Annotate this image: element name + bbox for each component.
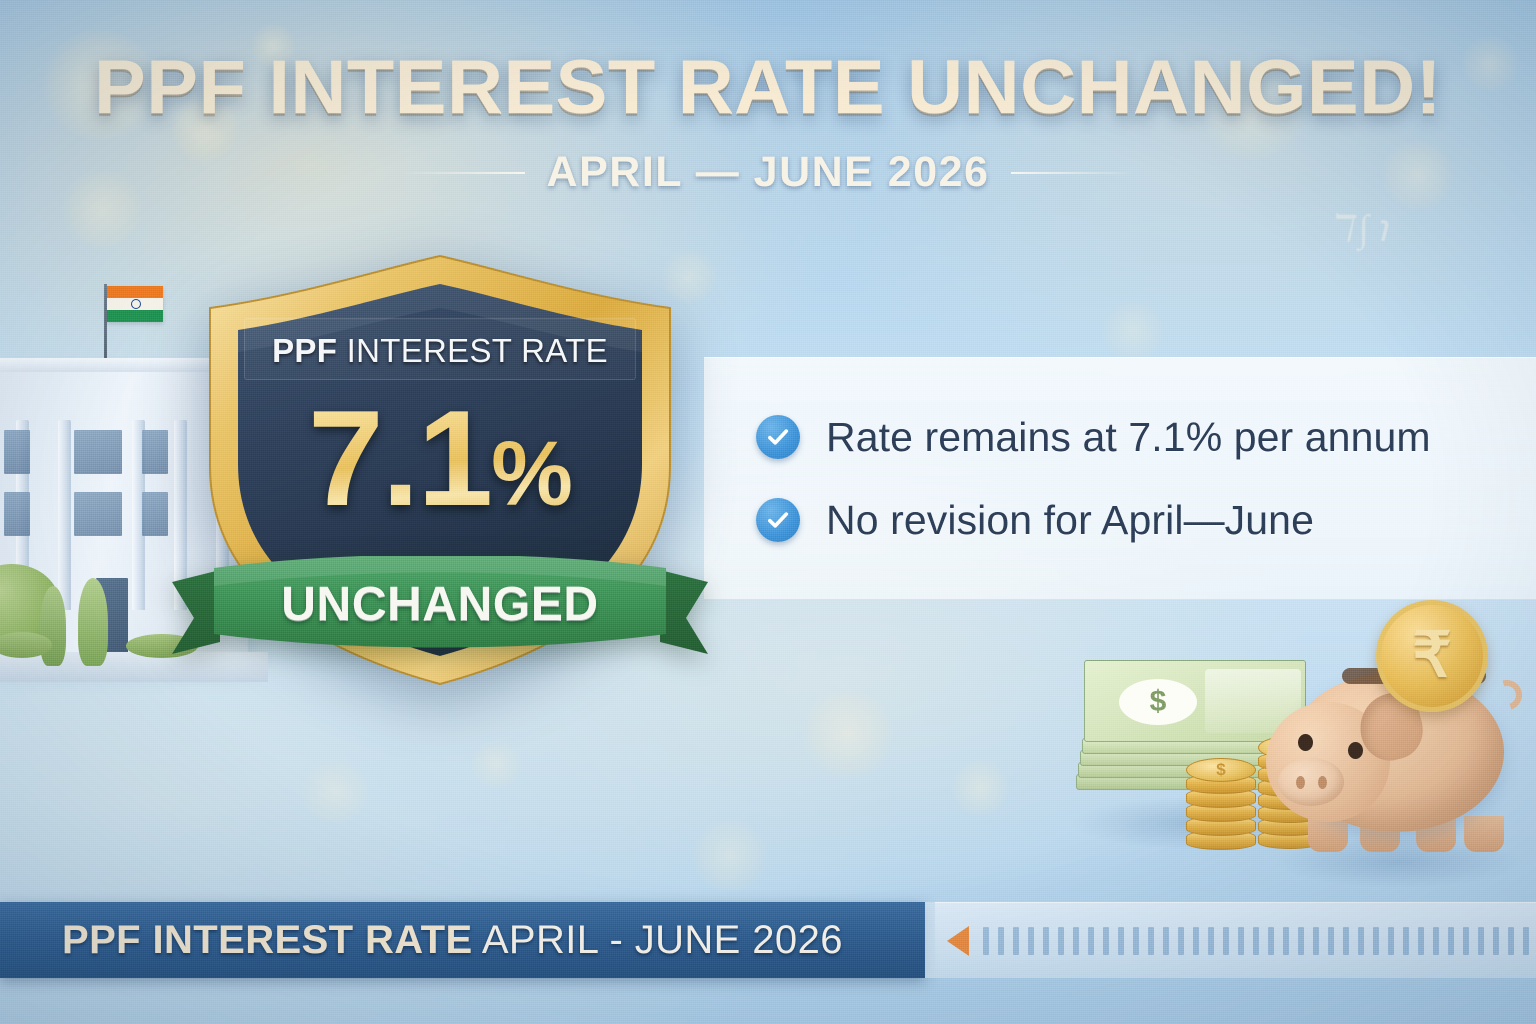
infographic-canvas: ℸ∫℩ PPF INTEREST RATE UNCHANGED! APRIL —… bbox=[0, 0, 1536, 1024]
fact-text: Rate remains at 7.1% per annum bbox=[826, 414, 1431, 461]
ticker-tick bbox=[1523, 927, 1529, 955]
building-window bbox=[142, 430, 168, 474]
lower-third: PPF INTEREST RATE APRIL - JUNE 2026 bbox=[0, 902, 1536, 978]
ticker-tick bbox=[1358, 927, 1364, 955]
coin-stack-small: $ bbox=[1186, 750, 1256, 850]
ticker-tick bbox=[1238, 927, 1244, 955]
ticker-tick bbox=[1088, 927, 1094, 955]
ticker-tick bbox=[1043, 927, 1049, 955]
fact-text: No revision for April—June bbox=[826, 497, 1314, 544]
lower-third-divider bbox=[925, 902, 935, 978]
coin-top: $ bbox=[1186, 758, 1256, 782]
ticker-tick bbox=[983, 927, 989, 955]
check-circle-icon bbox=[756, 498, 800, 542]
ticker-tick bbox=[1073, 927, 1079, 955]
ticker-tick bbox=[1313, 927, 1319, 955]
subtitle: APRIL — JUNE 2026 bbox=[547, 148, 990, 197]
rupee-symbol: ₹ bbox=[1412, 625, 1451, 687]
pig-leg bbox=[1464, 816, 1504, 852]
rate-value-display: 7.1% bbox=[198, 390, 682, 526]
pig-eye bbox=[1348, 742, 1363, 759]
play-marker-icon[interactable] bbox=[947, 926, 969, 956]
ticker-tick bbox=[1163, 927, 1169, 955]
pig-snout bbox=[1278, 758, 1344, 806]
ticker-tick bbox=[1328, 927, 1334, 955]
lower-third-light: APRIL - JUNE 2026 bbox=[473, 918, 843, 962]
ticker-tick bbox=[1493, 927, 1499, 955]
subtitle-rule-right bbox=[1011, 172, 1137, 174]
pig-nostril bbox=[1318, 776, 1327, 789]
shield-label-rest: INTEREST RATE bbox=[337, 332, 608, 369]
ticker-tick bbox=[1448, 927, 1454, 955]
ticker-tick bbox=[1253, 927, 1259, 955]
ticker-tick bbox=[1508, 927, 1514, 955]
pig-eye bbox=[1298, 734, 1313, 751]
shield-label: PPF INTEREST RATE bbox=[252, 332, 628, 370]
bokeh-spot bbox=[470, 740, 522, 788]
bokeh-spot bbox=[950, 760, 1010, 816]
pig-tail bbox=[1487, 675, 1528, 716]
ribbon-label: UNCHANGED bbox=[170, 577, 710, 632]
cash-symbol: $ bbox=[1119, 679, 1197, 725]
ticker-tick bbox=[1208, 927, 1214, 955]
ticker-tick bbox=[1268, 927, 1274, 955]
shield-label-bold: PPF bbox=[272, 332, 337, 369]
ticker-tick bbox=[1388, 927, 1394, 955]
rupee-coin-icon: ₹ bbox=[1376, 600, 1488, 712]
status-ribbon: UNCHANGED bbox=[170, 556, 710, 660]
ticker-tick bbox=[1223, 927, 1229, 955]
coin-symbol: $ bbox=[1216, 760, 1225, 780]
decorative-watermark: ℸ∫℩ bbox=[1328, 206, 1394, 251]
ticker-tick bbox=[1118, 927, 1124, 955]
building-window bbox=[74, 492, 122, 536]
ticker-tick bbox=[1478, 927, 1484, 955]
bokeh-spot bbox=[690, 820, 770, 892]
ticker-tick bbox=[1298, 927, 1304, 955]
rate-number: 7.1 bbox=[308, 382, 491, 534]
bokeh-spot bbox=[1100, 300, 1166, 362]
ticker-tick bbox=[1343, 927, 1349, 955]
ticker-tick bbox=[1103, 927, 1109, 955]
ticker-tick bbox=[1373, 927, 1379, 955]
building-window bbox=[4, 430, 30, 474]
lower-third-bar: PPF INTEREST RATE APRIL - JUNE 2026 bbox=[0, 902, 925, 978]
key-facts-panel: Rate remains at 7.1% per annum No revisi… bbox=[704, 357, 1536, 600]
lower-third-bold: PPF INTEREST RATE bbox=[62, 918, 473, 962]
building-window bbox=[4, 492, 30, 536]
ticker-tick bbox=[998, 927, 1004, 955]
ticker-tick bbox=[1403, 927, 1409, 955]
ticker-tick bbox=[1058, 927, 1064, 955]
subtitle-row: APRIL — JUNE 2026 bbox=[0, 148, 1536, 197]
shrub-conifer bbox=[78, 578, 108, 666]
building-window bbox=[74, 430, 122, 474]
bokeh-spot bbox=[300, 760, 370, 824]
ashoka-chakra bbox=[131, 299, 141, 309]
pig-nostril bbox=[1296, 776, 1305, 789]
fact-item: No revision for April—June bbox=[756, 497, 1506, 544]
bokeh-spot bbox=[800, 690, 896, 778]
subtitle-rule-left bbox=[399, 172, 525, 174]
ticker-tick bbox=[1283, 927, 1289, 955]
ticker-tick bbox=[1178, 927, 1184, 955]
ticker-tick bbox=[1433, 927, 1439, 955]
savings-illustration: $ $ $ bbox=[1060, 598, 1536, 900]
ticker-scale bbox=[983, 927, 1536, 955]
ticker-tick bbox=[1193, 927, 1199, 955]
building-column bbox=[58, 420, 71, 610]
ticker-tick bbox=[1133, 927, 1139, 955]
ticker-tick bbox=[1013, 927, 1019, 955]
check-circle-icon bbox=[756, 415, 800, 459]
ticker-tick bbox=[1418, 927, 1424, 955]
lower-third-text: PPF INTEREST RATE APRIL - JUNE 2026 bbox=[62, 918, 843, 963]
ticker-tick bbox=[1028, 927, 1034, 955]
ticker-strip[interactable] bbox=[935, 902, 1536, 978]
shrub-conifer bbox=[40, 586, 66, 666]
ticker-tick bbox=[1148, 927, 1154, 955]
page-title: PPF INTEREST RATE UNCHANGED! bbox=[0, 44, 1536, 131]
india-flag-icon bbox=[107, 286, 163, 322]
rate-percent-sign: % bbox=[491, 423, 572, 525]
fact-item: Rate remains at 7.1% per annum bbox=[756, 414, 1506, 461]
building-window bbox=[142, 492, 168, 536]
ticker-tick bbox=[1463, 927, 1469, 955]
